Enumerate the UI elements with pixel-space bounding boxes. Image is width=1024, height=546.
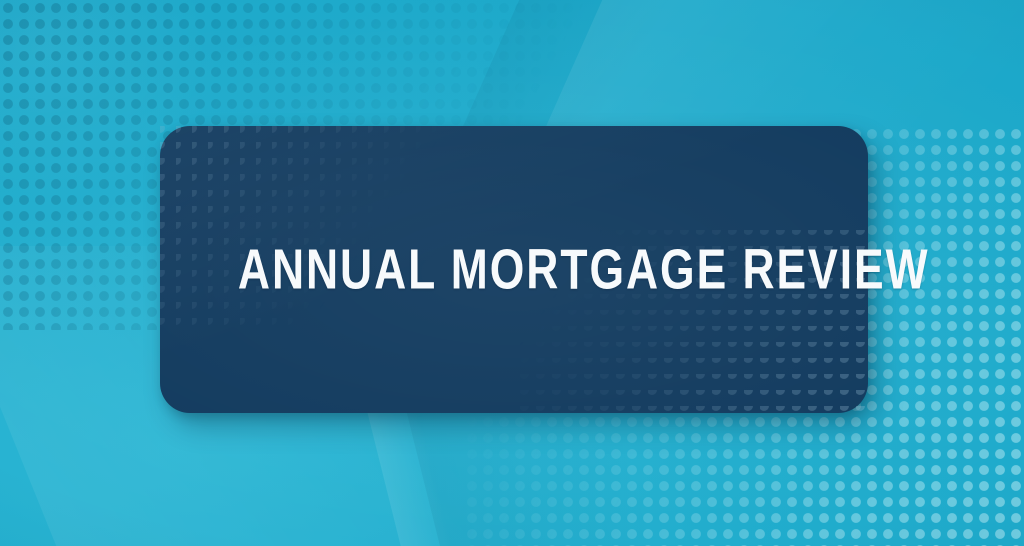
- banner-card: ANNUAL MORTGAGE REVIEW: [160, 126, 868, 413]
- page-title: ANNUAL MORTGAGE REVIEW: [238, 241, 790, 298]
- banner-canvas: ANNUAL MORTGAGE REVIEW: [0, 0, 1024, 546]
